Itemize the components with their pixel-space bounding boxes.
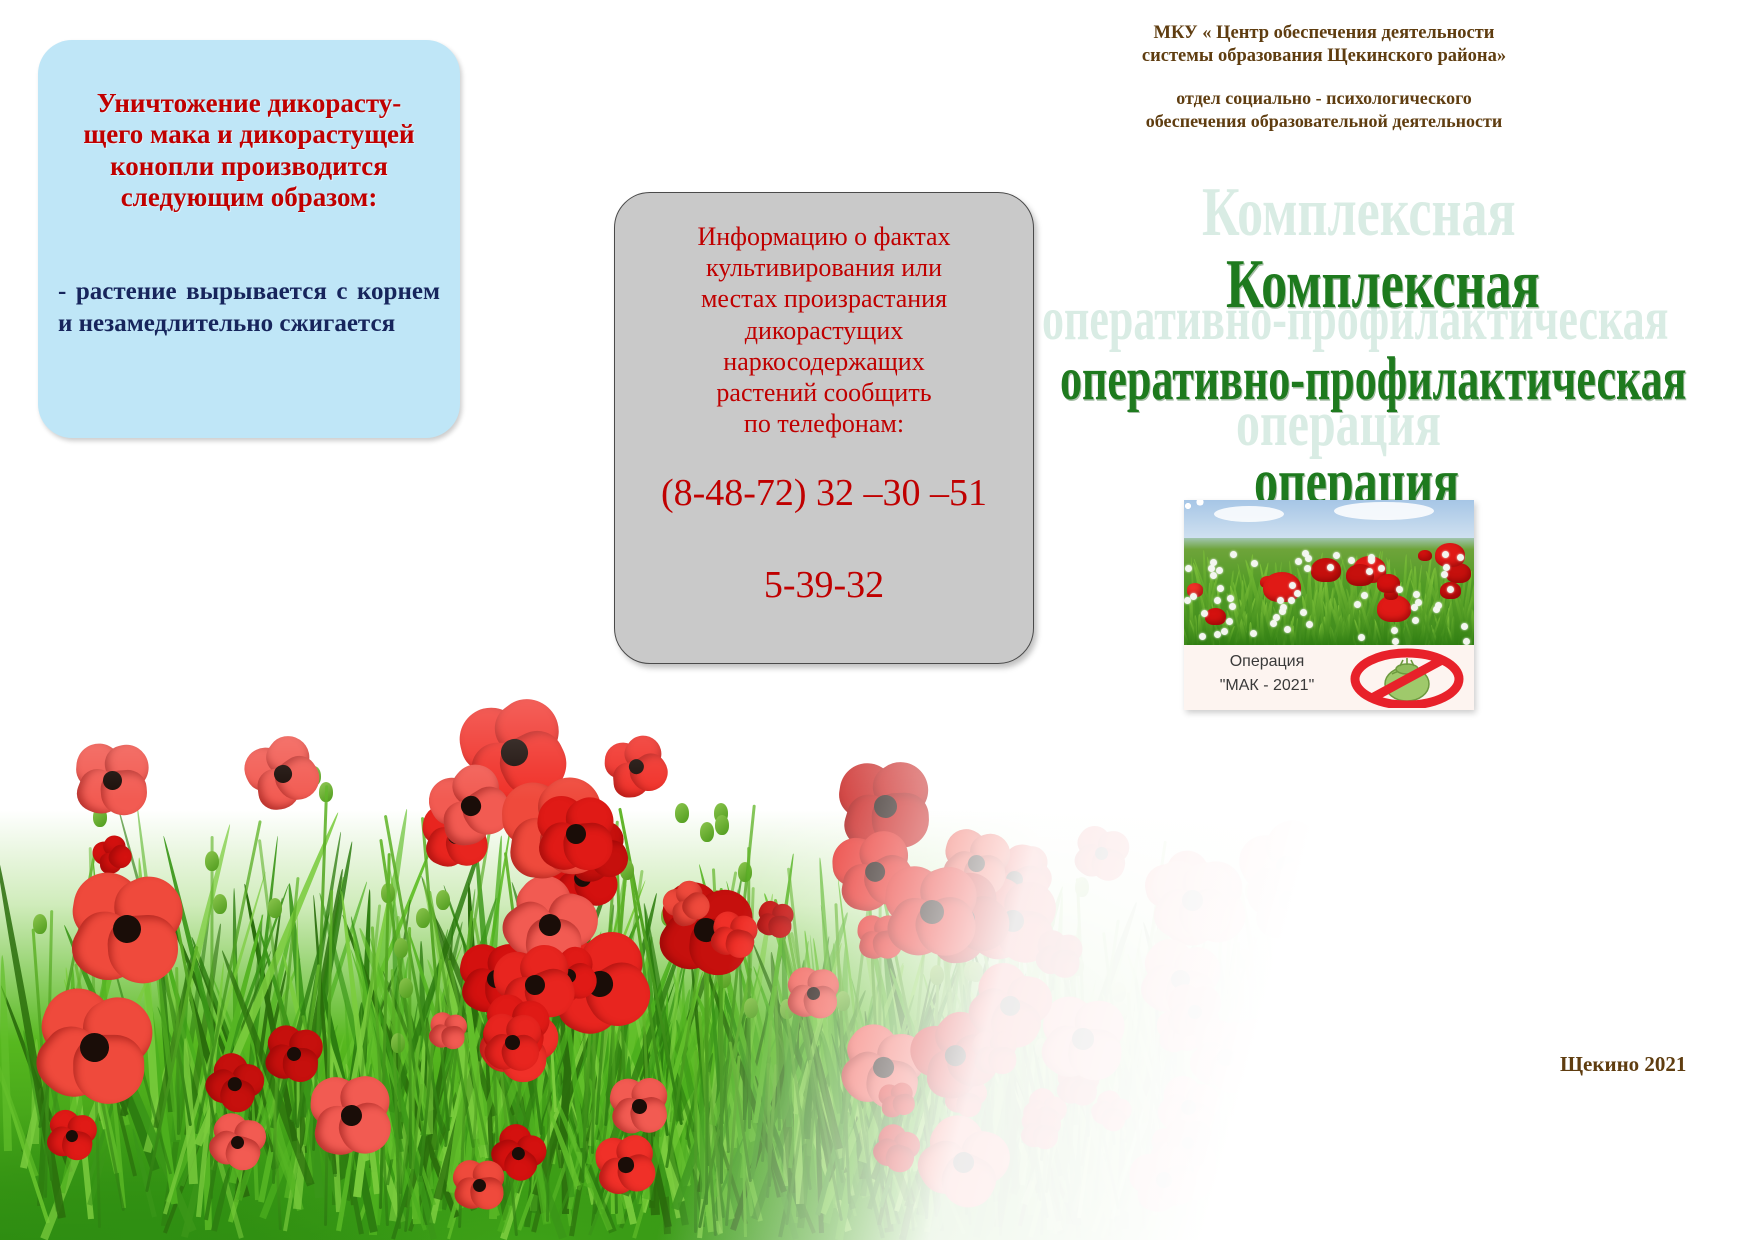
grass-blade (989, 885, 1068, 1119)
poppy-flower (488, 938, 583, 1033)
poppy-core (631, 1099, 647, 1115)
grass-blade (278, 1033, 344, 1181)
grass-blade (339, 891, 380, 1195)
poppy-petal (1135, 1170, 1182, 1216)
poppy-petal (1056, 1060, 1088, 1092)
grass-blade (1124, 1113, 1175, 1240)
poppy-stem (1274, 973, 1280, 1219)
grass-blade (569, 951, 622, 1237)
poppy-stem (1080, 920, 1120, 1167)
grass-blade (939, 1039, 965, 1186)
poppy-petal (231, 1063, 265, 1098)
grass-blade (1378, 1064, 1419, 1170)
grass-blade (581, 983, 636, 1143)
poppy-core (1153, 1169, 1174, 1190)
poppy-petal (1605, 967, 1642, 1004)
grass-blade (450, 1053, 479, 1136)
grass-blade (1129, 1096, 1160, 1215)
organization-header: МКУ « Центр обеспечения деятельности сис… (1094, 22, 1554, 132)
poppy-petal (627, 1094, 671, 1137)
grass-blade (1101, 1101, 1147, 1203)
poppy-bud (1516, 977, 1530, 997)
poppy-petal (440, 796, 494, 850)
grass-blade (990, 1098, 1000, 1232)
poppy-core (229, 1134, 247, 1152)
poppy-stem (1123, 841, 1167, 1123)
poppy-bud (1540, 969, 1554, 989)
poppy-stem (786, 929, 843, 1221)
grass-blade (195, 811, 343, 1146)
poppy-petal (1536, 955, 1580, 1000)
grass-blade (1341, 1112, 1389, 1237)
poppy-stem (1076, 878, 1090, 1137)
grass-blade (860, 1060, 882, 1197)
grass-blade (649, 1136, 670, 1198)
poppy-stem (604, 855, 628, 1127)
grass-blade (952, 1034, 981, 1145)
poppy-petal (1413, 985, 1444, 1016)
poppy-petal (1549, 981, 1598, 1030)
poppy-petal (482, 995, 543, 1056)
poppy-bud (984, 1013, 998, 1033)
poppy-stem (546, 883, 553, 1222)
poppy-petal (1170, 1021, 1205, 1056)
poppy-stem (1441, 1013, 1444, 1135)
poppy-flower (1219, 1082, 1318, 1181)
poppy-flower (1466, 938, 1526, 998)
poppy-petal (1578, 1115, 1616, 1153)
poppy-petal (1040, 994, 1097, 1051)
grass-blade (1258, 962, 1293, 1135)
grass-blade (796, 1128, 805, 1217)
poppy-stem (396, 916, 401, 1194)
grass-blade (1327, 1002, 1349, 1143)
grass-blade (356, 889, 373, 1158)
grass-blade (194, 955, 272, 1155)
poppy-petal (200, 1064, 245, 1109)
grass-blade (1087, 1043, 1101, 1124)
poppy-petal (1424, 990, 1469, 1034)
poppy-flower (1155, 1007, 1203, 1055)
grass-blade (1213, 1117, 1219, 1187)
poppy-petal (1419, 929, 1452, 962)
grass-blade (357, 942, 465, 1223)
poppy-stem (787, 867, 822, 1160)
grass-blade (1344, 1054, 1362, 1128)
poppy-core (534, 910, 565, 941)
photo-white-flower (1378, 565, 1385, 572)
poppy-core (1182, 1167, 1199, 1184)
grass-blade (504, 891, 548, 1133)
grass-blade (374, 1017, 412, 1208)
poppy-petal (1137, 929, 1202, 994)
grass-blade (834, 1014, 849, 1149)
grass-blade (373, 956, 412, 1225)
poppy-petal (507, 865, 582, 940)
grass-blade (1388, 1013, 1438, 1163)
grass-blade (0, 1080, 49, 1223)
grass-blade (874, 980, 944, 1151)
poppy-bud (1108, 1031, 1122, 1051)
poppy-flower (1182, 1014, 1269, 1101)
grass-blade (1452, 965, 1480, 1131)
poppy-bud (1245, 881, 1259, 901)
photo-white-flower (1270, 620, 1277, 627)
poppy-petal (71, 764, 129, 821)
poppy-petal (768, 915, 792, 938)
poppy-petal (255, 766, 302, 812)
poppy-flower (1426, 973, 1485, 1032)
grass-blade (1188, 1141, 1225, 1225)
grass-blade (356, 927, 435, 1113)
poppy-petal (1002, 973, 1056, 1028)
grass-blade (343, 1000, 358, 1170)
poppy-stem (728, 1042, 751, 1183)
grass-blade (553, 984, 608, 1177)
poppy-petal (426, 1021, 457, 1052)
poppy-petal (545, 940, 607, 1002)
grass-blade (1416, 1090, 1436, 1176)
poppy-petal (1399, 980, 1426, 1007)
poppy-stem (712, 868, 730, 1153)
grass-blade (1243, 1047, 1297, 1213)
grass-blade (1302, 958, 1370, 1121)
poppy-petal (857, 914, 888, 945)
grass-blade (1477, 1114, 1487, 1214)
grass-blade (736, 889, 749, 1145)
grass-blade (517, 1005, 602, 1231)
grass-blade (585, 1077, 610, 1144)
poppy-stem (272, 1027, 280, 1184)
poppy-petal (1093, 1086, 1125, 1118)
poppy-flower (886, 866, 979, 959)
grass-blade (1356, 1030, 1390, 1120)
poppy-petal (1545, 1154, 1580, 1188)
grass-blade (1484, 1007, 1515, 1160)
grass-blade (887, 1129, 914, 1204)
poppy-petal (75, 742, 123, 790)
grass-blade (537, 958, 615, 1165)
poppy-petal (1407, 922, 1442, 957)
poppy-flower (1387, 959, 1428, 1000)
grass-blade (603, 990, 633, 1181)
poppy-petal (1464, 1056, 1488, 1079)
grass-blade (369, 1009, 383, 1235)
grass-blade (1240, 1062, 1291, 1205)
poppy-bud (969, 962, 983, 982)
poppy-petal (872, 929, 904, 960)
grass-blade (530, 910, 576, 1198)
grass-blade (93, 1009, 137, 1176)
poppy-bud (1400, 864, 1414, 884)
grass-blade (554, 920, 585, 1149)
grass-blade (1316, 1035, 1339, 1138)
grass-blade (887, 1019, 933, 1136)
poppy-petal (807, 967, 842, 1003)
poppy-stem (1471, 956, 1505, 1143)
grass-blade (327, 1028, 338, 1147)
grass-blade (720, 989, 744, 1153)
grass-blade (703, 965, 762, 1186)
poppy-petal (1005, 868, 1036, 898)
poppy-petal (486, 687, 572, 774)
grass-blade (293, 1144, 308, 1209)
grass-blade (1239, 1068, 1250, 1212)
poppy-petal (1167, 1142, 1209, 1184)
grass-blade (1225, 977, 1247, 1138)
grass-blade (594, 1056, 626, 1224)
grass-blade (270, 911, 332, 1129)
poppy-core (1348, 1144, 1364, 1160)
grass-blade (708, 1135, 746, 1222)
poppy-petal (875, 1031, 928, 1085)
poppy-stem (272, 1100, 282, 1230)
poppy-stem (1013, 1020, 1037, 1165)
poppy-petal (1436, 915, 1469, 948)
poppy-flower (88, 830, 137, 879)
poppy-bud (1427, 978, 1441, 998)
poppy-petal (1465, 1111, 1509, 1155)
poppy-petal (1524, 915, 1577, 968)
poppy-flower (1398, 974, 1444, 1020)
poppy-petal (468, 1155, 511, 1198)
grass-blade (698, 951, 787, 1192)
grass-blade (1056, 901, 1141, 1122)
poppy-bud (1512, 918, 1526, 938)
poppy-petal (1633, 1116, 1681, 1164)
grass-blade (419, 878, 487, 1158)
poppy-petal (1042, 1096, 1068, 1122)
grass-blade (929, 1061, 945, 1172)
poppy-petal (1686, 1043, 1725, 1084)
grass-blade (369, 900, 412, 1169)
grass-blade (808, 934, 838, 1200)
grass-blade (954, 944, 993, 1132)
poppy-petal (1349, 1098, 1388, 1137)
grass-blade (447, 982, 518, 1228)
grass-blade (99, 1051, 110, 1121)
poppy-bud (1114, 1002, 1128, 1022)
poppy-bud (620, 860, 634, 880)
grass-blade (876, 1161, 894, 1233)
grass-blade (1049, 946, 1131, 1138)
grass-blade (104, 933, 172, 1174)
poppy-stem (1545, 1004, 1579, 1196)
poppy-stem (1259, 1065, 1270, 1193)
poppy-petal (1017, 1104, 1051, 1138)
grass-blade (699, 1024, 705, 1199)
poppy-core (1448, 995, 1463, 1010)
poppy-bud (1572, 1023, 1586, 1043)
grass-blade (539, 1074, 562, 1189)
grass-blade (1413, 1030, 1451, 1210)
grass-blade (692, 1033, 729, 1151)
grass-blade (1169, 1072, 1187, 1154)
poppy-petal (1161, 966, 1218, 1022)
grass-blade (348, 916, 404, 1153)
grass-blade (577, 1028, 608, 1141)
grass-blade (211, 1166, 232, 1231)
grass-blade (184, 924, 224, 1136)
poppy-petal (1016, 1118, 1050, 1152)
poppy-bud (738, 862, 752, 882)
poppy-petal (1651, 1115, 1699, 1163)
grass-blade (1119, 1044, 1203, 1234)
grass-blade (690, 1090, 714, 1232)
poppy-petal (784, 962, 826, 1004)
grass-blade (388, 1092, 403, 1164)
grass-blade (1403, 993, 1426, 1156)
poppy-petal (655, 872, 731, 948)
poppy-petal (1109, 1098, 1133, 1123)
grass-blade (614, 989, 632, 1168)
poppy-petal (499, 973, 556, 1029)
grass-blade (257, 930, 345, 1218)
poppy-stem (1236, 873, 1292, 1126)
grass-blade (437, 1068, 482, 1209)
grass-blade (586, 1042, 617, 1165)
poppy-flower (1434, 903, 1494, 963)
photo-white-flower (1226, 618, 1233, 625)
grass-blade (1443, 1040, 1466, 1143)
poppy-petal (1422, 968, 1468, 1014)
grass-blade (660, 937, 683, 1187)
grass-blade (1267, 1049, 1306, 1146)
poppy-flower (483, 1013, 542, 1072)
grass-blade (623, 1112, 642, 1205)
grass-blade (353, 1102, 373, 1197)
poppy-bud (1154, 928, 1168, 948)
poppy-bud (1524, 988, 1538, 1008)
poppy-petal (1401, 1196, 1427, 1221)
grass-blade (189, 936, 280, 1171)
grass-blade (1457, 1110, 1490, 1176)
poppy-petal (1146, 880, 1213, 947)
poppy-core (1171, 876, 1195, 900)
grass-blade (1159, 1083, 1173, 1152)
poppy-petal (927, 1001, 996, 1069)
poppy-petal (1162, 1142, 1190, 1170)
grass-blade (1455, 1104, 1478, 1171)
grass-blade (675, 963, 717, 1177)
poppy-petal (494, 894, 567, 967)
poppy-core (1238, 1038, 1254, 1054)
grass-blade (905, 969, 999, 1209)
grass-blade (762, 892, 843, 1131)
poppy-stem (434, 812, 494, 1159)
poppy-petal (1635, 1179, 1664, 1208)
poppy-petal (1525, 894, 1575, 944)
grass-blade (1151, 992, 1164, 1211)
report-contacts-panel: Информацию о фактах культивирования или … (614, 192, 1034, 664)
poppy-stem (1450, 1042, 1484, 1192)
grass-blade (442, 885, 537, 1149)
poppy-flower (490, 866, 608, 984)
poppy-petal (619, 729, 668, 777)
grass-blade (494, 1015, 517, 1195)
poppy-bud (675, 803, 689, 823)
grass-blade (972, 950, 1009, 1136)
poppy-petal (1160, 883, 1203, 925)
grass-blade (698, 994, 754, 1154)
grass-blade (960, 1121, 972, 1186)
grass-blade (1483, 1053, 1524, 1204)
poppy-bud (291, 1054, 305, 1074)
poppy-stem (999, 1012, 1008, 1236)
poppy-core (458, 793, 484, 819)
poppy-flower (907, 862, 1021, 976)
grass-blade (1272, 1053, 1281, 1138)
cloud-icon (1214, 506, 1284, 522)
grass-blade (1366, 1057, 1399, 1163)
poppy-petal (1033, 1017, 1103, 1087)
grass-blade (1400, 970, 1431, 1141)
grass-blade (1010, 1083, 1050, 1170)
grass-blade (751, 966, 822, 1156)
grass-blade (1434, 1137, 1446, 1199)
grass-blade (778, 959, 808, 1119)
poppy-core (523, 973, 548, 998)
grass-blade (646, 936, 673, 1123)
poppy-flower (1368, 958, 1433, 1023)
poppy-stem (1356, 971, 1408, 1216)
poppy-petal (1088, 844, 1128, 883)
poppy-petal (1344, 1113, 1381, 1150)
poppy-bud (709, 890, 723, 910)
poppy-petal (969, 1027, 1004, 1062)
grass-blade (510, 949, 566, 1172)
grass-blade (1127, 1107, 1145, 1184)
grass-blade (1091, 1124, 1134, 1232)
grass-blade (817, 1090, 847, 1159)
photo-white-flower (1294, 590, 1301, 597)
poppy-bud (1514, 948, 1528, 968)
grass-blade (770, 1060, 805, 1143)
poppy-bud (717, 968, 731, 988)
grass-blade (850, 978, 914, 1222)
grass-blade (1188, 1018, 1212, 1146)
phone-number-primary: (8-48-72) 32 –30 –51 (625, 471, 1023, 515)
grass-blade (1446, 1110, 1451, 1187)
grass-blade (980, 1030, 1064, 1235)
poppy-petal (836, 759, 899, 822)
grass-blade (1346, 1018, 1362, 1134)
poppy-core (627, 757, 646, 776)
poppy-flower (1366, 1102, 1424, 1160)
grass-blade (548, 1074, 616, 1234)
grass-blade (1426, 1001, 1491, 1169)
grass-blade (696, 864, 769, 1135)
grass-blade (1430, 1010, 1441, 1148)
poppy-flower (1230, 809, 1344, 923)
grass-blade (1265, 1070, 1324, 1240)
grass-blade (984, 902, 1049, 1150)
poppy-core (1001, 909, 1025, 933)
poppy-petal (967, 871, 1032, 936)
grass-blade (388, 799, 499, 1113)
poppy-stem (1175, 997, 1185, 1157)
poppy-stem (40, 942, 88, 1170)
grass-blade (1417, 971, 1464, 1146)
poppy-petal (1172, 882, 1238, 947)
poppy-petal (535, 949, 577, 991)
poppy-stem (790, 932, 844, 1183)
grass-blade (1449, 938, 1456, 1126)
grass-blade (1164, 1070, 1204, 1190)
poppy-petal (1695, 1083, 1720, 1108)
poppy-petal (1218, 1106, 1288, 1176)
poppy-petal (1426, 1109, 1452, 1134)
